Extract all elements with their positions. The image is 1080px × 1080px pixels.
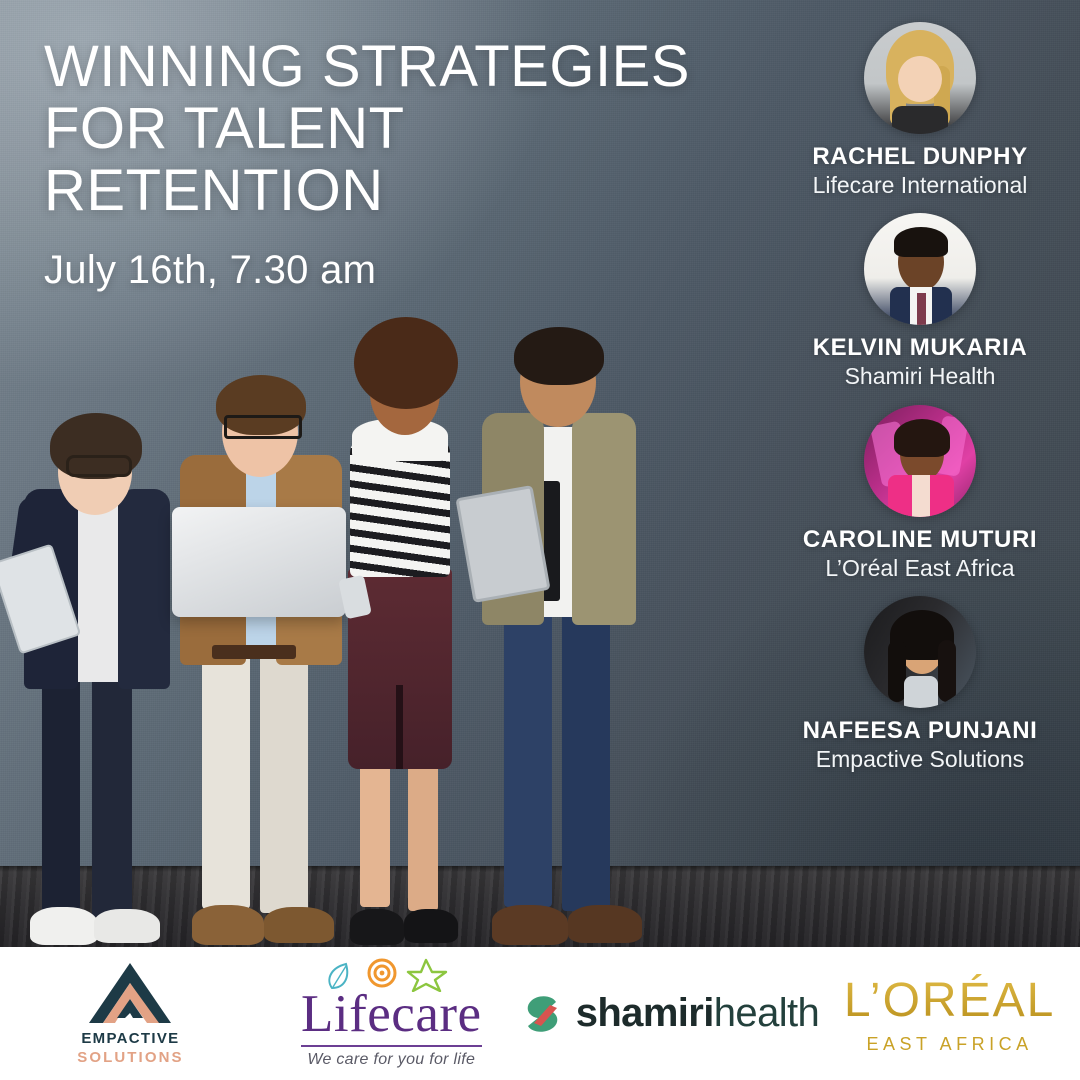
shoe: [30, 907, 98, 945]
shamiri-bold: shamiri: [576, 991, 714, 1035]
page-title: WINNING STRATEGIES FOR TALENT RETENTION: [44, 36, 744, 222]
title-line-2: FOR TALENT RETENTION: [44, 96, 404, 223]
speaker-name: KELVIN MUKARIA: [760, 335, 1080, 362]
empactive-name: EMPACTIVE: [81, 1030, 179, 1047]
shoe: [192, 905, 264, 945]
logo-loreal[interactable]: L’ORÉAL EAST AFRICA: [819, 947, 1080, 1080]
heel: [404, 909, 458, 943]
team-photo: [0, 240, 700, 947]
speaker-name: NAFEESA PUNJANI: [760, 718, 1080, 745]
speaker-card[interactable]: KELVIN MUKARIA Shamiri Health: [760, 213, 1080, 390]
lifecare-name: Lifecare: [301, 988, 482, 1041]
loreal-name: L’ORÉAL: [844, 973, 1055, 1028]
speaker-org: Shamiri Health: [760, 363, 1080, 391]
logo-shamirihealth[interactable]: shamirihealth: [522, 947, 819, 1080]
speaker-org: Lifecare International: [760, 172, 1080, 200]
lifecare-divider: [301, 1045, 482, 1047]
empactive-sub: SOLUTIONS: [77, 1049, 183, 1066]
event-date: July 16th, 7.30 am: [44, 248, 744, 293]
shoe: [568, 905, 642, 943]
loreal-sub: EAST AFRICA: [866, 1034, 1032, 1055]
avatar: [864, 596, 976, 708]
skirt-slit: [396, 685, 403, 769]
leaf-icon: [330, 964, 348, 988]
avatar: [864, 405, 976, 517]
event-poster: WINNING STRATEGIES FOR TALENT RETENTION …: [0, 0, 1080, 1080]
shoe: [94, 909, 160, 943]
avatar: [864, 22, 976, 134]
spiral-icon: [369, 960, 395, 986]
logo-empactive[interactable]: EMPACTIVE SOLUTIONS: [0, 947, 261, 1080]
belt: [212, 645, 296, 659]
title-line-1: WINNING STRATEGIES: [44, 34, 690, 99]
shoe: [492, 905, 568, 945]
speaker-card[interactable]: RACHEL DUNPHY Lifecare International: [760, 22, 1080, 199]
speaker-name: CAROLINE MUTURI: [760, 527, 1080, 554]
avatar: [864, 213, 976, 325]
speaker-card[interactable]: CAROLINE MUTURI L’Oréal East Africa: [760, 405, 1080, 582]
sponsor-logo-bar: EMPACTIVE SOLUTIONS: [0, 947, 1080, 1080]
shamiri-s-icon: [522, 993, 564, 1035]
speaker-org: L’Oréal East Africa: [760, 555, 1080, 583]
headline-block: WINNING STRATEGIES FOR TALENT RETENTION …: [44, 36, 744, 293]
star-icon: [408, 960, 446, 991]
lifecare-tagline: We care for you for life: [307, 1051, 475, 1069]
glasses: [66, 455, 132, 477]
lifecare-icons: [316, 958, 466, 992]
empactive-triangle-icon: [87, 961, 173, 1025]
speaker-list: RACHEL DUNPHY Lifecare International KEL…: [760, 22, 1080, 788]
glasses: [224, 415, 302, 439]
logo-lifecare[interactable]: Lifecare We care for you for life: [261, 947, 522, 1080]
shamiri-light: health: [714, 991, 819, 1035]
person-man-tablet: [460, 247, 660, 947]
speaker-name: RACHEL DUNPHY: [760, 144, 1080, 171]
speaker-org: Empactive Solutions: [760, 746, 1080, 774]
heel: [350, 909, 404, 945]
speaker-card[interactable]: NAFEESA PUNJANI Empactive Solutions: [760, 596, 1080, 773]
shamiri-wordmark: shamirihealth: [576, 991, 819, 1036]
